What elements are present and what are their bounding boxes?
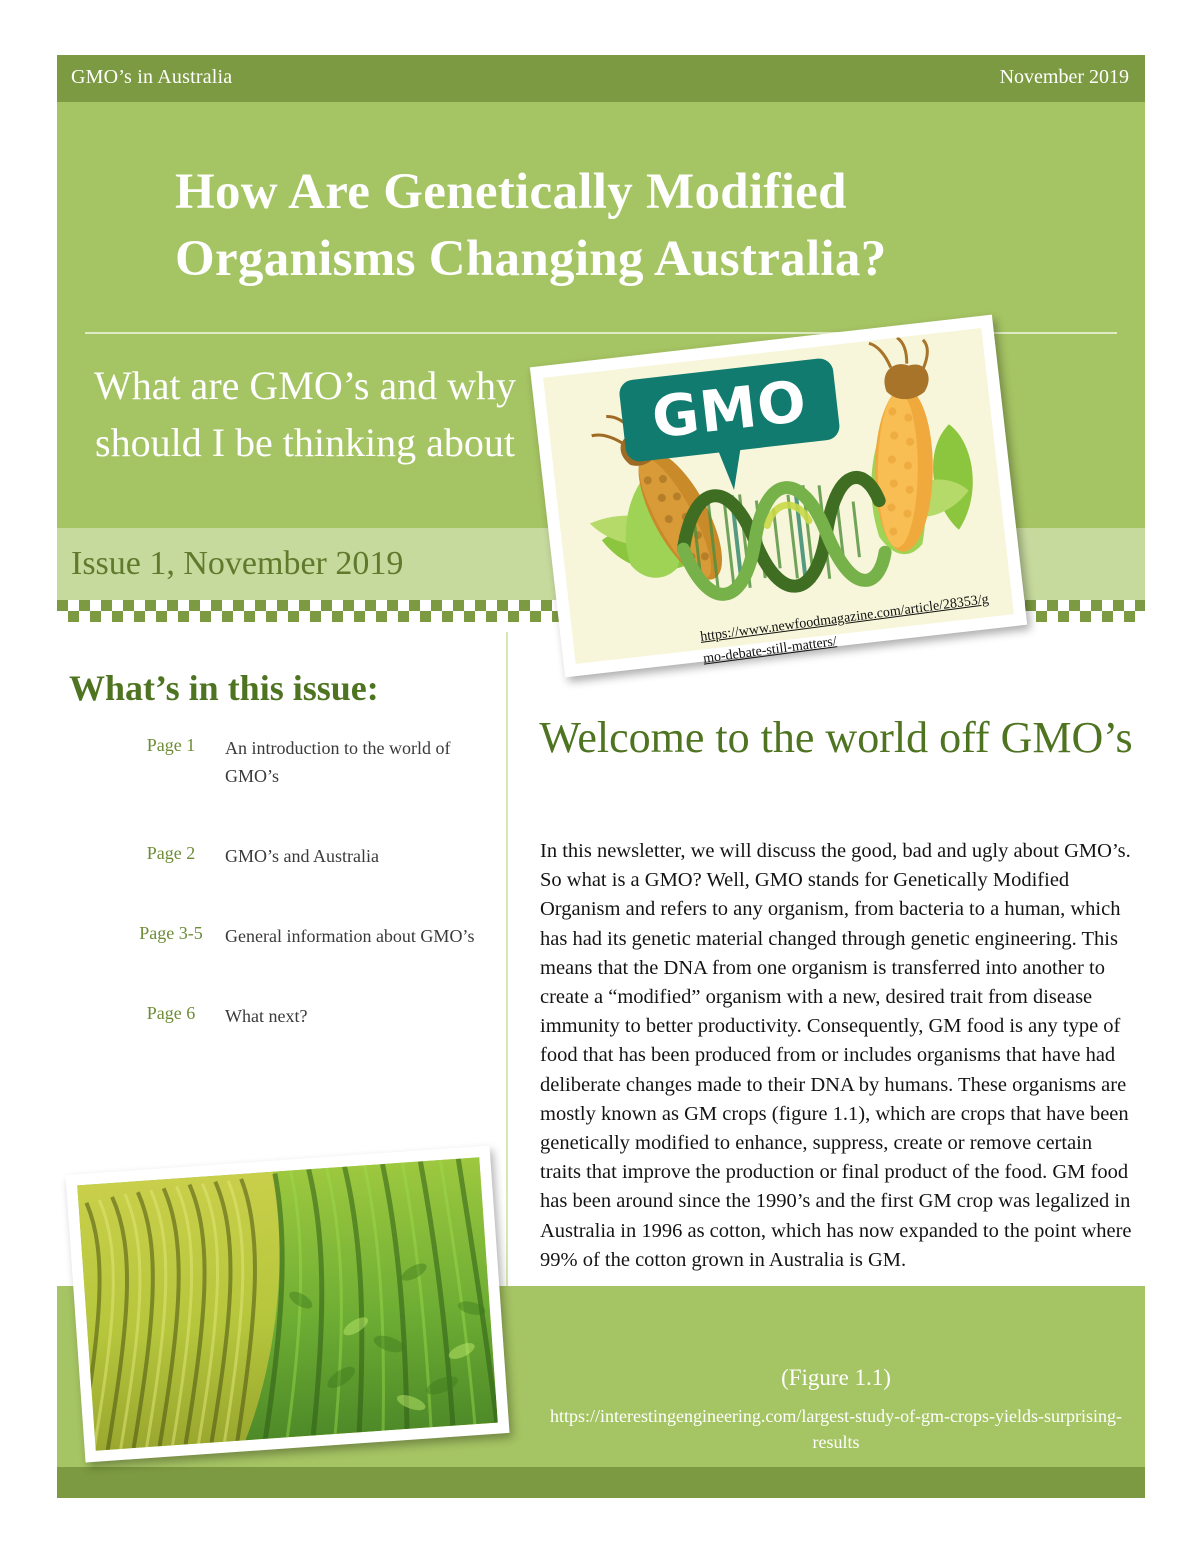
figure-caption: (Figure 1.1) xyxy=(527,1365,1145,1391)
newsletter-page: GMO’s in Australia November 2019 How Are… xyxy=(57,55,1145,1498)
toc-entry-page: Page 2 xyxy=(117,843,225,871)
toc-entry-description: What next? xyxy=(225,1003,475,1031)
toc-entry-page: Page 1 xyxy=(117,735,225,791)
toc-entry: Page 3-5 General information about GMO’s xyxy=(117,923,497,951)
article-body: In this newsletter, we will discuss the … xyxy=(540,837,1134,1275)
page-subtitle: What are GMO’s and why should I be think… xyxy=(93,358,517,472)
masthead-bar: GMO’s in Australia November 2019 xyxy=(57,55,1145,102)
crop-field-photo-card xyxy=(65,1146,509,1463)
crop-field-photo xyxy=(77,1157,498,1450)
toc-entry: Page 6 What next? xyxy=(117,1003,497,1031)
toc-entry-description: GMO’s and Australia xyxy=(225,843,475,871)
toc-entry-page: Page 3-5 xyxy=(117,923,225,951)
toc-entry: Page 2 GMO’s and Australia xyxy=(117,843,497,871)
issue-label: Issue 1, November 2019 xyxy=(71,545,403,583)
toc-entry: Page 1 An introduction to the world of G… xyxy=(117,735,497,791)
toc-list: Page 1 An introduction to the world of G… xyxy=(117,735,497,1082)
figure-source-url[interactable]: https://interestingengineering.com/large… xyxy=(527,1403,1145,1455)
article-title: Welcome to the world off GMO’s xyxy=(527,710,1145,766)
toc-entry-page: Page 6 xyxy=(117,1003,225,1031)
toc-entry-description: An introduction to the world of GMO’s xyxy=(225,735,475,791)
crop-field-artwork xyxy=(77,1157,498,1450)
column-divider xyxy=(506,632,508,1332)
gmo-badge-tail xyxy=(719,449,745,491)
issue-date: November 2019 xyxy=(1000,66,1129,89)
publication-name: GMO’s in Australia xyxy=(71,66,232,89)
toc-entry-description: General information about GMO’s xyxy=(225,923,475,951)
footer-strip xyxy=(57,1467,1145,1498)
page-title: How Are Genetically Modified Organisms C… xyxy=(175,159,1075,294)
toc-heading: What’s in this issue: xyxy=(69,667,379,709)
